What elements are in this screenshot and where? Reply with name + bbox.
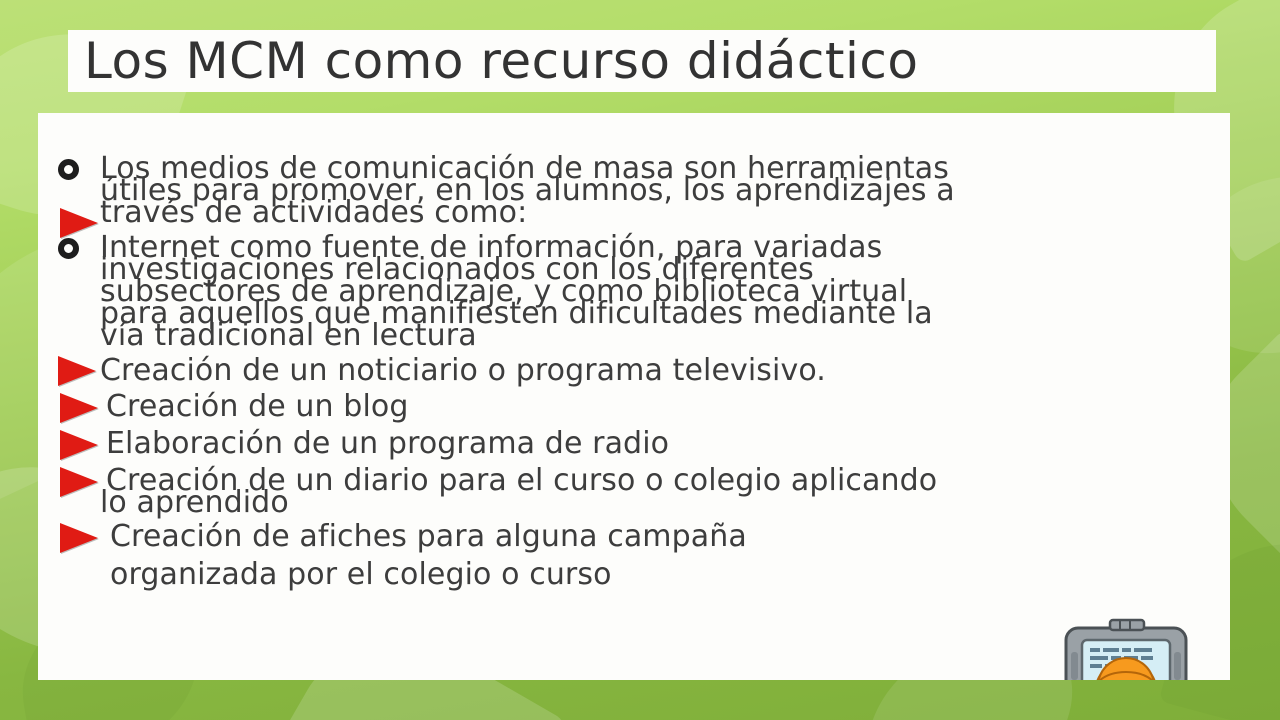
arrow-bullet-icon (60, 430, 98, 460)
list-item: través de actividades como: (100, 197, 527, 228)
list-item: Creación de un blog (106, 391, 408, 422)
arrow-bullet-icon (60, 523, 98, 553)
list-item: organizada por el colegio o curso (110, 559, 612, 590)
page-title: Los MCM como recurso didáctico (84, 35, 918, 87)
list-item: lo aprendido (100, 487, 289, 518)
arrow-bullet-icon (60, 467, 98, 497)
list-item: Creación de un noticiario o programa tel… (100, 355, 826, 386)
child-at-computer-clipart (1038, 618, 1230, 680)
arrow-bullet-icon (60, 208, 98, 238)
ring-bullet-icon (58, 159, 79, 180)
content-plate: Los medios de comunicación de masa son h… (38, 113, 1230, 680)
ring-bullet-icon (58, 238, 79, 259)
arrow-bullet-icon (58, 356, 96, 386)
arrow-bullet-icon (60, 393, 98, 423)
list-item: Elaboración de un programa de radio (106, 428, 669, 459)
title-plate: Los MCM como recurso didáctico (68, 30, 1216, 92)
list-item: vía tradicional en lectura (100, 320, 477, 351)
list-item: Creación de afiches para alguna campaña (110, 521, 747, 552)
